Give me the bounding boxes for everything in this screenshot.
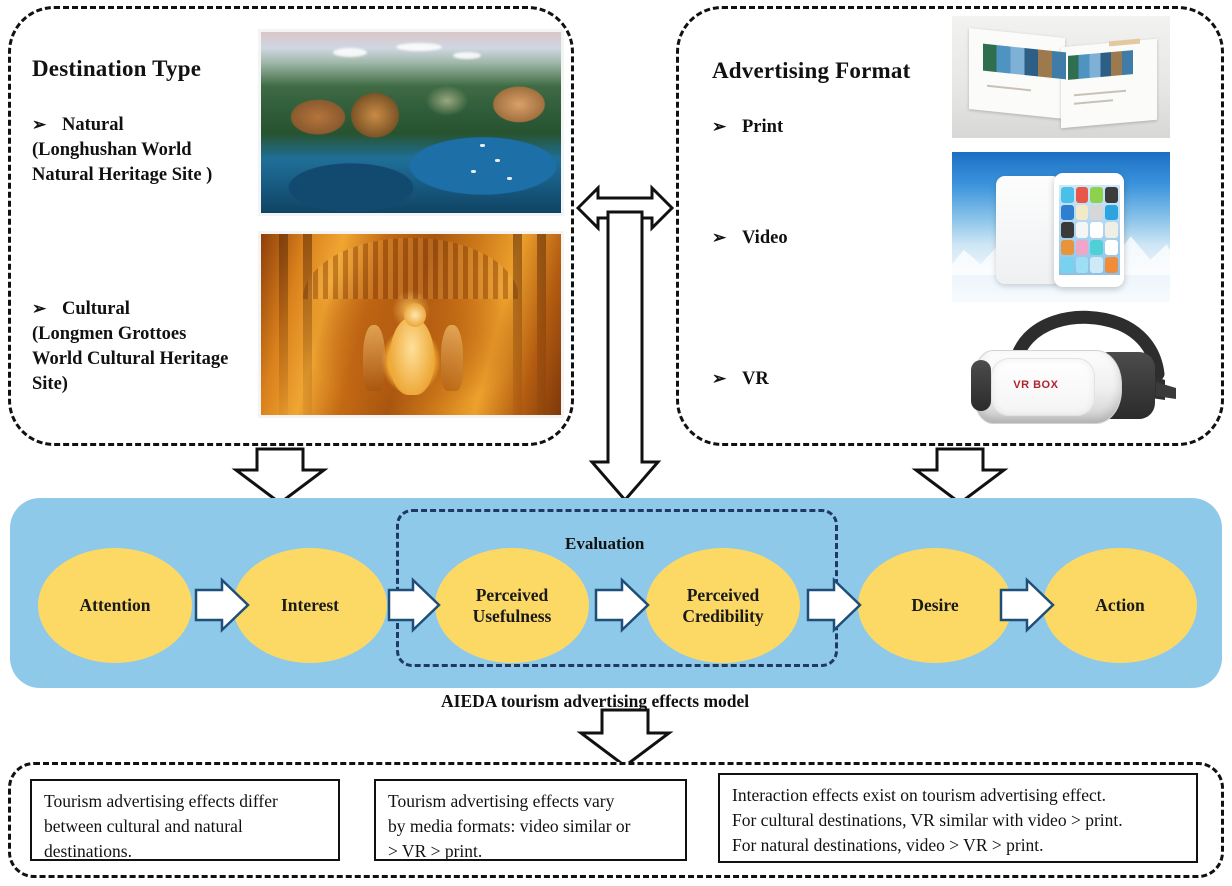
- conclusion-1-line-3: destinations.: [44, 839, 328, 864]
- chevron-bullet-icon: ➢: [712, 114, 742, 139]
- down-arrow-destination-to-model: [236, 449, 324, 503]
- vr-label: VR: [742, 369, 769, 389]
- conclusion-1-line-1: Tourism advertising effects differ: [44, 789, 328, 814]
- video-bullet-row: ➢Video: [712, 225, 788, 251]
- conclusion-2-line-1: Tourism advertising effects vary: [388, 789, 675, 814]
- stage-label-interest: Interest: [281, 595, 339, 616]
- advertising-item-video: ➢Video: [712, 225, 788, 251]
- conclusion-2-line-3: > VR > print.: [388, 839, 675, 864]
- pc-line-2: Credibility: [682, 606, 763, 626]
- longhushan-landscape-photo: [258, 29, 564, 216]
- destination-item-cultural: ➢Cultural (Longmen Grottoes World Cultur…: [32, 296, 228, 397]
- smartphone-video-photo: [952, 152, 1170, 302]
- vr-box-logo: VR BOX: [1013, 379, 1058, 391]
- destination-item-natural: ➢Natural (Longhushan World Natural Herit…: [32, 112, 212, 188]
- pu-line-1: Perceived: [476, 585, 549, 605]
- cultural-label: Cultural: [62, 299, 130, 319]
- cultural-detail-line-1: (Longmen Grottoes: [32, 322, 228, 347]
- phone-screen: [1059, 185, 1120, 275]
- natural-detail-line-2: Natural Heritage Site ): [32, 163, 212, 188]
- vr-bullet-row: ➢VR: [712, 366, 769, 392]
- bidirectional-arrow-between-panels: [578, 188, 672, 228]
- conclusion-box-2: Tourism advertising effects vary by medi…: [374, 779, 687, 861]
- conclusion-3-line-1: Interaction effects exist on tourism adv…: [732, 783, 1186, 808]
- stage-label-perceived-usefulness: Perceived Usefulness: [473, 585, 552, 627]
- stage-ellipse-attention[interactable]: Attention: [38, 548, 192, 663]
- natural-bullet-row: ➢Natural: [32, 112, 212, 138]
- chevron-bullet-icon: ➢: [712, 366, 742, 391]
- print-bullet-row: ➢Print: [712, 114, 783, 140]
- down-arrow-center-to-model: [592, 212, 658, 500]
- stage-ellipse-desire[interactable]: Desire: [858, 548, 1012, 663]
- stage-label-perceived-credibility: Perceived Credibility: [682, 585, 763, 627]
- stage-ellipse-action[interactable]: Action: [1043, 548, 1197, 663]
- pu-line-2: Usefulness: [473, 606, 552, 626]
- stage-ellipse-interest[interactable]: Interest: [233, 548, 387, 663]
- advertising-panel-title: Advertising Format: [712, 58, 910, 84]
- cultural-bullet-row: ➢Cultural: [32, 296, 228, 322]
- vr-headset-photo: VR BOX: [960, 304, 1182, 438]
- down-arrow-model-to-conclusions: [581, 710, 669, 766]
- conclusion-2-line-2: by media formats: video similar or: [388, 814, 675, 839]
- natural-label: Natural: [62, 115, 124, 135]
- stage-label-attention: Attention: [80, 595, 151, 616]
- chevron-bullet-icon: ➢: [32, 112, 62, 137]
- advertising-item-vr: ➢VR: [712, 366, 769, 392]
- stage-label-action: Action: [1095, 595, 1145, 616]
- cultural-detail-line-2: World Cultural Heritage: [32, 347, 228, 372]
- print-brochure-photo: [952, 16, 1170, 138]
- natural-detail-line-1: (Longhushan World: [32, 138, 212, 163]
- pc-line-1: Perceived: [687, 585, 760, 605]
- advertising-item-print: ➢Print: [712, 114, 783, 140]
- conclusion-3-line-3: For natural destinations, video > VR > p…: [732, 833, 1186, 858]
- print-label: Print: [742, 117, 783, 137]
- model-caption: AIEDA tourism advertising effects model: [441, 691, 749, 712]
- cultural-detail-line-3: Site): [32, 372, 228, 397]
- destination-panel-title: Destination Type: [32, 56, 201, 82]
- video-label: Video: [742, 228, 788, 248]
- chevron-bullet-icon: ➢: [32, 296, 62, 321]
- chevron-bullet-icon: ➢: [712, 225, 742, 250]
- evaluation-label: Evaluation: [565, 534, 644, 554]
- stage-ellipse-perceived-usefulness[interactable]: Perceived Usefulness: [435, 548, 589, 663]
- stage-label-desire: Desire: [911, 595, 958, 616]
- down-arrow-advertising-to-model: [916, 449, 1004, 503]
- longmen-grottoes-photo: [258, 231, 564, 418]
- stage-ellipse-perceived-credibility[interactable]: Perceived Credibility: [646, 548, 800, 663]
- conclusion-1-line-2: between cultural and natural: [44, 814, 328, 839]
- conclusion-3-line-2: For cultural destinations, VR similar wi…: [732, 808, 1186, 833]
- conclusion-box-1: Tourism advertising effects differ betwe…: [30, 779, 340, 861]
- conclusion-box-3: Interaction effects exist on tourism adv…: [718, 773, 1198, 863]
